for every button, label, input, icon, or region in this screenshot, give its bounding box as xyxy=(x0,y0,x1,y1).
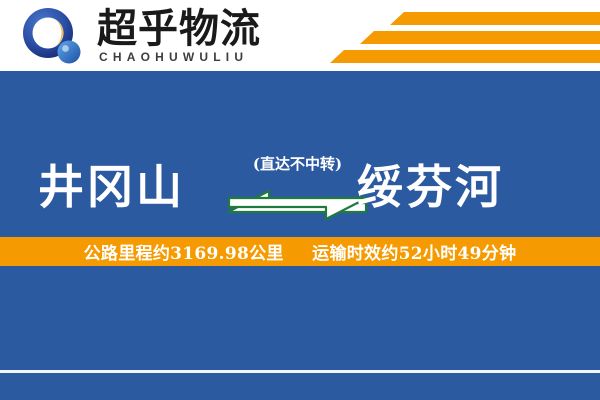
brand-name-en: CHAOHUWULIU xyxy=(99,50,248,64)
stripe-3 xyxy=(330,50,600,63)
origin-city: 井冈山 xyxy=(38,164,185,210)
bidirectional-arrow-icon xyxy=(225,182,370,233)
distance-text: 公路里程约3169.98公里 xyxy=(84,244,284,264)
route-band: 井冈山 (直达不中转) 【往返运输】 绥芬河 xyxy=(0,71,600,235)
logistics-route-banner: 超乎物流 CHAOHUWULIU 井冈山 (直达不中转) 【往返运输】 绥芬河 … xyxy=(0,0,600,400)
stripe-1 xyxy=(390,12,600,25)
header-bar: 超乎物流 CHAOHUWULIU xyxy=(0,0,600,71)
info-bar: 公路里程约3169.98公里 运输时效约52小时49分钟 xyxy=(0,237,600,266)
duration-text: 运输时效约52小时49分钟 xyxy=(312,244,516,264)
stripe-2 xyxy=(360,31,600,44)
circle-crescent-logo-icon xyxy=(22,7,84,65)
info-bar-text: 公路里程约3169.98公里 运输时效约52小时49分钟 xyxy=(84,239,517,264)
bottom-panel: 绥芬河镇、阜宁镇 xyxy=(0,268,600,400)
destination-city: 绥芬河 xyxy=(357,164,504,210)
direct-shipping-note: (直达不中转) xyxy=(225,156,370,173)
decorative-stripes xyxy=(330,6,600,66)
brand-name-cn: 超乎物流 xyxy=(97,8,261,50)
bottom-divider xyxy=(0,370,600,373)
